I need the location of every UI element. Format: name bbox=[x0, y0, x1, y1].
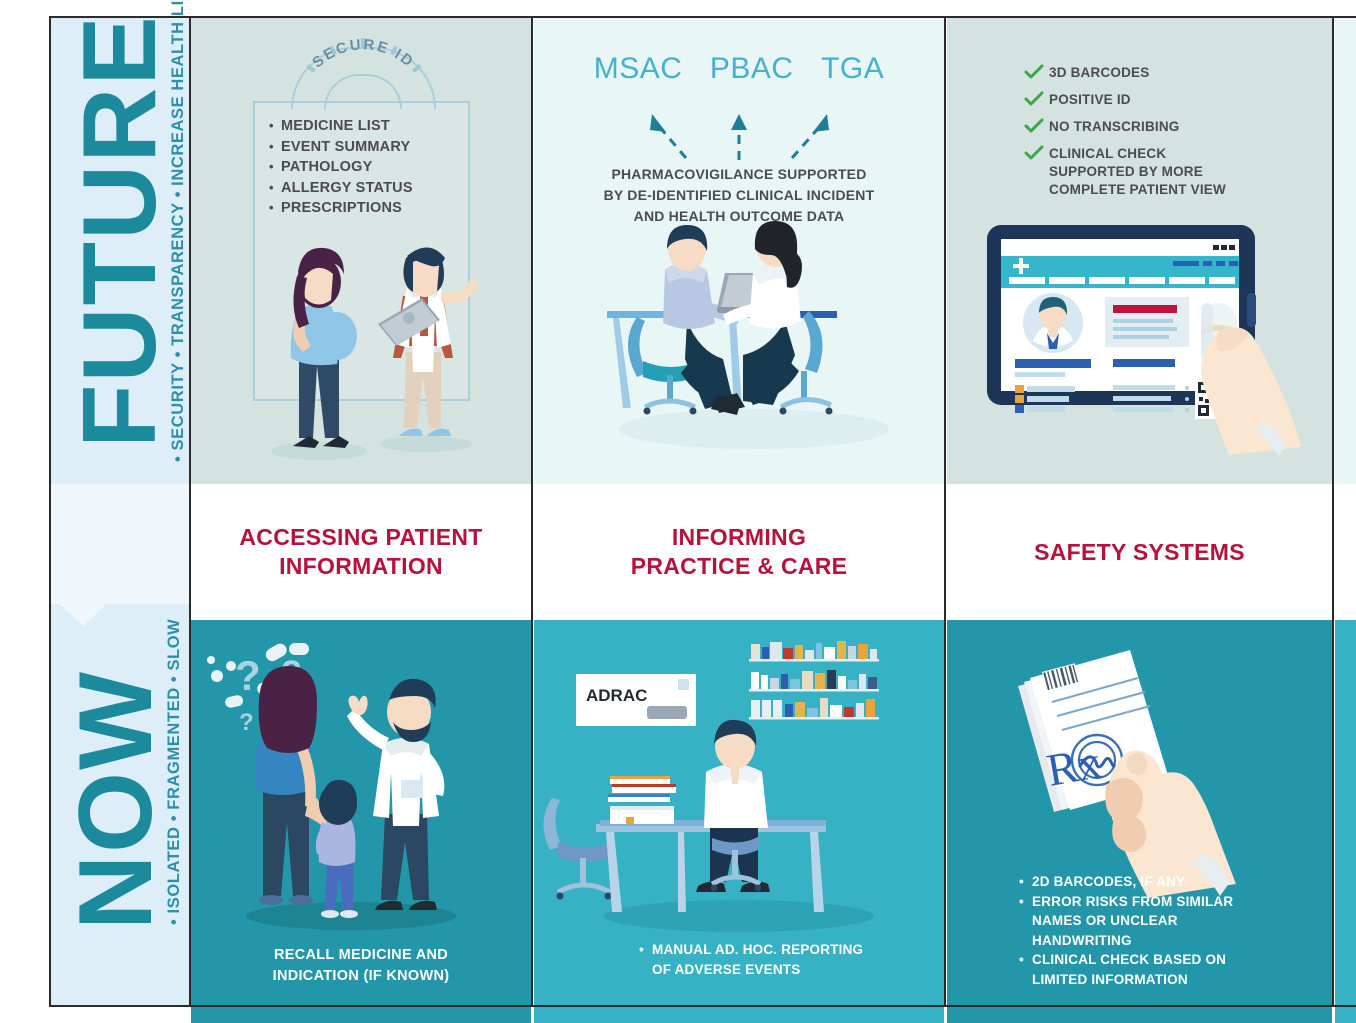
list-item: PATHOLOGY bbox=[269, 157, 469, 178]
future-medicine-record-list: MEDICINE LIST EVENT SUMMARY PATHOLOGY AL… bbox=[269, 116, 469, 219]
rail-subtitle-future: • SECURITY • TRANSPARENCY • INCREASE HEA… bbox=[170, 0, 187, 462]
col3-future-band: 3D BARCODES POSITIVE ID NO TRANSCRIBING bbox=[947, 16, 1332, 484]
list-item: EVENT SUMMARY bbox=[269, 137, 469, 158]
illustration-patient-and-doctor bbox=[241, 206, 521, 476]
check-label: 3D BARCODES bbox=[1049, 64, 1149, 82]
now-issue-list: MANUAL AD. HOC. REPORTING OF ADVERSE EVE… bbox=[639, 940, 869, 979]
timeline-rail: FUTURE • SECURITY • TRANSPARENCY • INCRE… bbox=[0, 0, 190, 1023]
rx-label: Rx bbox=[1043, 736, 1105, 796]
illustration-clinicians-at-desk bbox=[579, 211, 909, 461]
question-mark: ? bbox=[239, 709, 254, 736]
column-informing-practice-and-care: MSAC PBAC TGA PHARMACOVIGILANCE SUPPORTE… bbox=[534, 16, 944, 1007]
now-caption: RECALL MEDICINE AND INDICATION (IF KNOWN… bbox=[191, 945, 531, 987]
column-accessing-patient-information: SECURE ID MEDICINE LIST EVENT SUMMARY PA… bbox=[191, 16, 531, 1007]
illustration-hand-holding-prescription: Rx bbox=[972, 638, 1292, 898]
now-issue-list: 2D BARCODES, IF ANY ERROR RISKS FROM SIM… bbox=[1019, 872, 1259, 989]
col1-now-band: ? ? ? bbox=[191, 620, 531, 1023]
list-item: 2D BARCODES, IF ANY bbox=[1019, 872, 1259, 892]
list-item: NO TRANSCRIBING bbox=[1025, 118, 1315, 136]
rail-title-now: NOW bbox=[64, 670, 168, 930]
check-icon bbox=[1025, 92, 1049, 106]
adrac-poster: ADRAC bbox=[576, 674, 696, 726]
column-separator bbox=[531, 16, 533, 1007]
check-icon bbox=[1025, 146, 1049, 160]
page-title: INFORMING PRACTICE & CARE bbox=[631, 523, 848, 581]
agency-label-tga: TGA bbox=[821, 52, 884, 86]
adrac-poster-thumb bbox=[678, 679, 689, 690]
illustration-reporting-desk bbox=[534, 720, 934, 935]
illustration-tablet-patient-record bbox=[969, 211, 1309, 456]
col3-now-band: Rx 2D BARCODES, IF ANY ERROR RISKS FROM … bbox=[947, 620, 1332, 1023]
agency-label-pbac: PBAC bbox=[710, 52, 794, 86]
check-label: NO TRANSCRIBING bbox=[1049, 118, 1180, 136]
illustration-family-and-pharmacist: ? ? ? bbox=[201, 638, 531, 938]
col2-now-band: ADRAC bbox=[534, 620, 944, 1023]
question-mark: ? bbox=[235, 652, 261, 699]
check-label: CLINICAL CHECK SUPPORTED BY MORE COMPLET… bbox=[1049, 145, 1249, 199]
medicine-shelves bbox=[749, 638, 884, 723]
page-title: SAFETY SYSTEMS bbox=[1034, 538, 1245, 567]
list-item: 3D BARCODES bbox=[1025, 64, 1315, 82]
list-item: MEDICINE LIST bbox=[269, 116, 469, 137]
rail-panel-middle bbox=[50, 484, 190, 604]
col4-future-band bbox=[1335, 16, 1356, 484]
list-item: MANUAL AD. HOC. REPORTING OF ADVERSE EVE… bbox=[639, 940, 869, 979]
check-icon bbox=[1025, 65, 1049, 79]
column-separator bbox=[944, 16, 946, 1007]
list-item: ERROR RISKS FROM SIMILAR NAMES OR UNCLEA… bbox=[1019, 892, 1259, 951]
safety-check-list: 3D BARCODES POSITIVE ID NO TRANSCRIBING bbox=[1025, 64, 1315, 208]
col4-title-band bbox=[1335, 484, 1356, 620]
list-item: CLINICAL CHECK BASED ON LIMITED INFORMAT… bbox=[1019, 950, 1259, 989]
col1-future-band: SECURE ID MEDICINE LIST EVENT SUMMARY PA… bbox=[191, 16, 531, 484]
rail-subtitle-now: • ISOLATED • FRAGMENTED • SLOW bbox=[166, 619, 183, 925]
secure-id-label: SECURE ID bbox=[291, 52, 436, 122]
list-item: POSITIVE ID bbox=[1025, 91, 1315, 109]
col2-future-band: MSAC PBAC TGA PHARMACOVIGILANCE SUPPORTE… bbox=[534, 16, 944, 484]
check-icon bbox=[1025, 119, 1049, 133]
infographic-canvas: FUTURE • SECURITY • TRANSPARENCY • INCRE… bbox=[0, 0, 1356, 1023]
agency-row: MSAC PBAC TGA bbox=[534, 52, 944, 86]
column-safety-systems: 3D BARCODES POSITIVE ID NO TRANSCRIBING bbox=[947, 16, 1332, 1007]
rail-title-future: FUTURE bbox=[68, 14, 172, 448]
adrac-poster-label: ADRAC bbox=[586, 686, 647, 706]
check-label: POSITIVE ID bbox=[1049, 91, 1131, 109]
agency-label-msac: MSAC bbox=[594, 52, 683, 86]
column-partial-next bbox=[1335, 16, 1356, 1007]
col4-now-band bbox=[1335, 620, 1356, 1023]
column-separator bbox=[189, 16, 191, 1007]
page-title: ACCESSING PATIENT INFORMATION bbox=[239, 523, 482, 581]
column-separator bbox=[1332, 16, 1334, 1007]
list-item: CLINICAL CHECK SUPPORTED BY MORE COMPLET… bbox=[1025, 145, 1315, 199]
list-item: ALLERGY STATUS bbox=[269, 178, 469, 199]
arrows-to-agencies bbox=[534, 96, 944, 171]
adrac-poster-bar bbox=[647, 706, 687, 719]
